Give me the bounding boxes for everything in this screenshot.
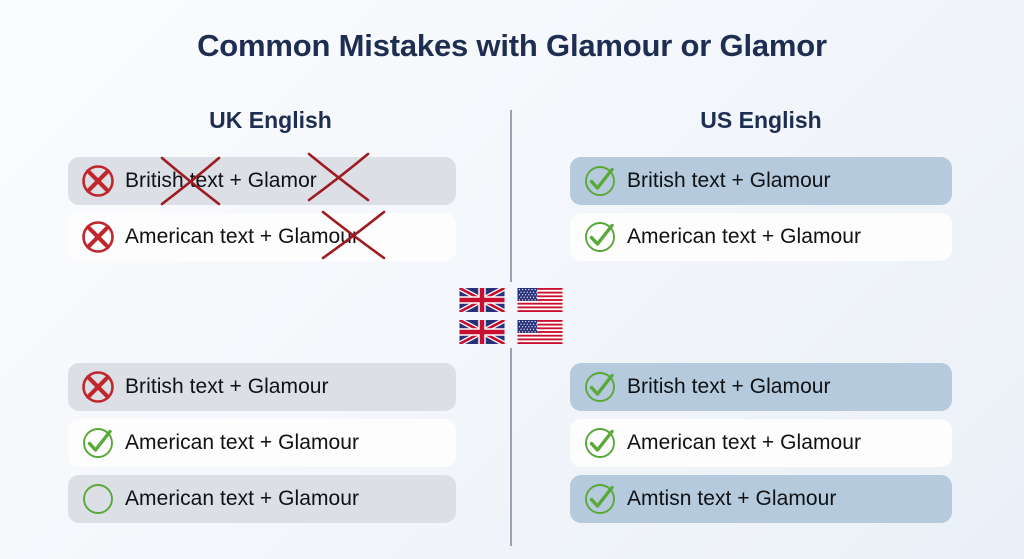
list-item[interactable]: American text + Glamour xyxy=(570,213,952,261)
column-divider-bottom xyxy=(510,348,512,546)
column-divider-top xyxy=(510,110,512,282)
empty-circle-icon xyxy=(80,481,116,517)
list-item-label: American text + Glamour xyxy=(125,487,359,511)
check-circle-icon xyxy=(582,163,618,199)
list-item[interactable]: American text + Glamour xyxy=(570,419,952,467)
uk-top-row-group: British text + GlamorAmerican text + Gla… xyxy=(68,157,456,261)
list-item-label: Amtisn text + Glamour xyxy=(627,487,836,511)
cross-circle-icon xyxy=(80,369,116,405)
uk-flag xyxy=(459,288,505,312)
cross-circle-icon xyxy=(80,219,116,255)
check-circle-icon xyxy=(582,369,618,405)
list-item[interactable]: American text + Glamour xyxy=(68,213,456,261)
list-item-label: American text + Glamour xyxy=(125,431,359,455)
us-bottom-row-group: British text + GlamourAmerican text + Gl… xyxy=(570,363,952,523)
list-item[interactable]: British text + Glamor xyxy=(68,157,456,205)
uk-bottom-row-group: British text + GlamourAmerican text + Gl… xyxy=(68,363,456,523)
list-item-label: British text + Glamor xyxy=(125,169,317,193)
page-title: Common Mistakes with Glamour or Glamor xyxy=(0,28,1024,64)
list-item-label: British text + Glamour xyxy=(627,375,831,399)
column-heading-uk: UK English xyxy=(68,107,473,134)
list-item[interactable]: British text + Glamour xyxy=(570,157,952,205)
column-heading-us: US English xyxy=(570,107,952,134)
us-flag xyxy=(517,320,563,344)
cross-circle-icon xyxy=(80,163,116,199)
list-item-label: American text + Glamour xyxy=(627,431,861,455)
us-flag xyxy=(517,288,563,312)
list-item-label: British text + Glamour xyxy=(627,169,831,193)
us-top-row-group: British text + GlamourAmerican text + Gl… xyxy=(570,157,952,261)
list-item-label: American text + Glamour xyxy=(627,225,861,249)
list-item[interactable]: American text + Glamour xyxy=(68,419,456,467)
check-circle-icon xyxy=(582,219,618,255)
list-item[interactable]: British text + Glamour xyxy=(570,363,952,411)
list-item-label: American text + Glamour xyxy=(125,225,359,249)
check-circle-icon xyxy=(582,481,618,517)
check-circle-icon xyxy=(582,425,618,461)
flag-group xyxy=(459,288,563,344)
list-item[interactable]: British text + Glamour xyxy=(68,363,456,411)
uk-flag xyxy=(459,320,505,344)
list-item-label: British text + Glamour xyxy=(125,375,329,399)
list-item[interactable]: American text + Glamour xyxy=(68,475,456,523)
check-circle-icon xyxy=(80,425,116,461)
list-item[interactable]: Amtisn text + Glamour xyxy=(570,475,952,523)
